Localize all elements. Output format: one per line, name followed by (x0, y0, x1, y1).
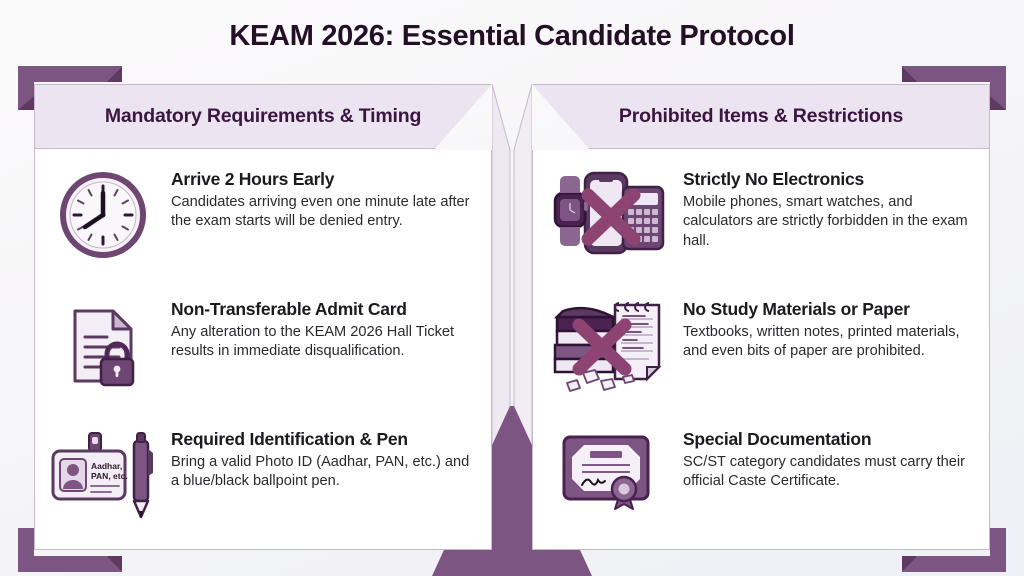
list-item-title: Required Identification & Pen (171, 429, 471, 450)
list-item-body: Arrive 2 Hours Early Candidates arriving… (171, 163, 477, 232)
list-item: Aadhar, PAN, etc. Required Identificatio… (49, 423, 477, 553)
prohibited-list: Strictly No Electronics Mobile phones, s… (533, 149, 989, 549)
list-item-body: Non-Transferable Admit Card Any alterati… (171, 293, 477, 362)
list-item-body: Special Documentation SC/ST category can… (683, 423, 975, 492)
list-item-description: Mobile phones, smart watches, and calcul… (683, 193, 973, 251)
list-item-description: Candidates arriving even one minute late… (171, 193, 471, 232)
badge-label-line2: PAN, etc. (91, 471, 128, 481)
panel-header-prohibited: Prohibited Items & Restrictions (533, 85, 989, 149)
no-study-materials-icon (547, 293, 669, 397)
requirement-list: Arrive 2 Hours Early Candidates arriving… (35, 149, 491, 549)
list-item-description: Textbooks, written notes, printed materi… (683, 323, 973, 362)
list-item: Special Documentation SC/ST category can… (547, 423, 975, 553)
list-item: Strictly No Electronics Mobile phones, s… (547, 163, 975, 293)
page-title: KEAM 2026: Essential Candidate Protocol (0, 20, 1024, 53)
certificate-icon (547, 423, 669, 527)
panel-header-mandatory: Mandatory Requirements & Timing (35, 85, 491, 149)
list-item-description: Bring a valid Photo ID (Aadhar, PAN, etc… (171, 453, 471, 492)
list-item-title: Arrive 2 Hours Early (171, 169, 471, 190)
locked-document-icon (49, 293, 157, 397)
panel-prohibited-items: Prohibited Items & Restrictions (532, 84, 990, 550)
list-item-title: Strictly No Electronics (683, 169, 973, 190)
list-item-body: Required Identification & Pen Bring a va… (171, 423, 477, 492)
no-electronics-icon (547, 163, 669, 267)
list-item: No Study Materials or Paper Textbooks, w… (547, 293, 975, 423)
list-item-description: Any alteration to the KEAM 2026 Hall Tic… (171, 323, 471, 362)
list-item-description: SC/ST category candidates must carry the… (683, 453, 973, 492)
list-item-title: Non-Transferable Admit Card (171, 299, 471, 320)
panel-mandatory-requirements: Mandatory Requirements & Timing (34, 84, 492, 550)
id-badge-and-pen-icon: Aadhar, PAN, etc. (49, 423, 157, 527)
panel-heading-label: Prohibited Items & Restrictions (619, 105, 903, 128)
list-item-title: Special Documentation (683, 429, 973, 450)
list-item-body: Strictly No Electronics Mobile phones, s… (683, 163, 975, 251)
list-item: Arrive 2 Hours Early Candidates arriving… (49, 163, 477, 293)
badge-label-line1: Aadhar, (91, 461, 122, 471)
panel-heading-label: Mandatory Requirements & Timing (105, 105, 421, 128)
wall-clock-icon (49, 163, 157, 267)
list-item: Non-Transferable Admit Card Any alterati… (49, 293, 477, 423)
list-item-body: No Study Materials or Paper Textbooks, w… (683, 293, 975, 362)
list-item-title: No Study Materials or Paper (683, 299, 973, 320)
